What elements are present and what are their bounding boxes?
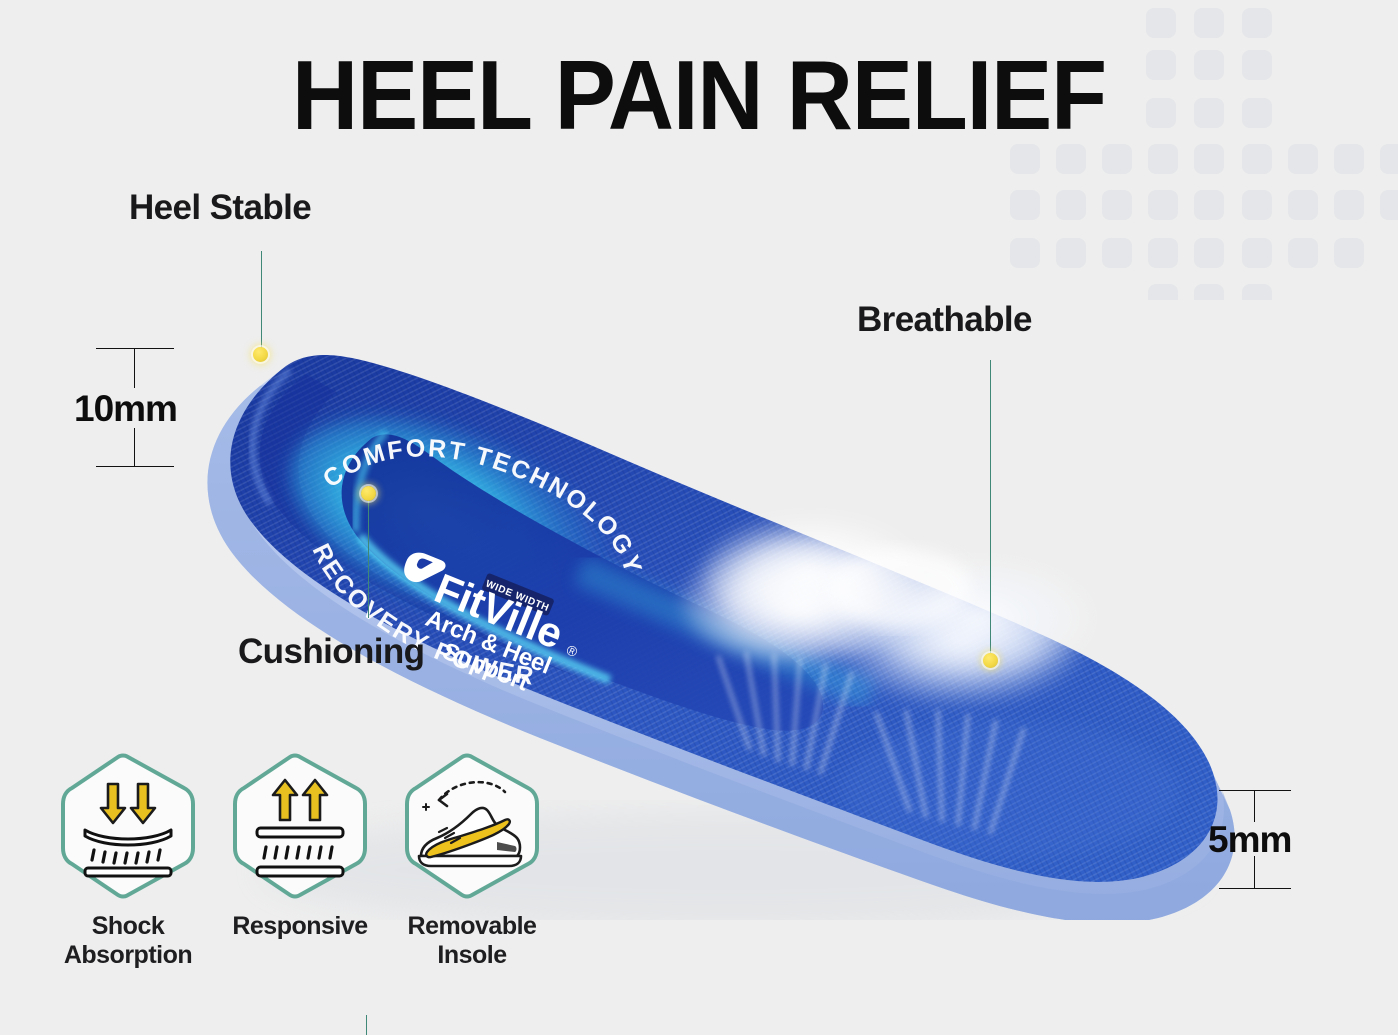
dimension-cap-top xyxy=(1219,790,1291,791)
callout-label-cushioning: Cushioning xyxy=(238,632,424,672)
feature-label-removable-insole: Removable Insole xyxy=(386,912,558,969)
feature-shock-absorption: Shock Absorption xyxy=(42,752,214,969)
pin-dot-heel-stable xyxy=(253,347,268,362)
feature-icon-row: Shock Absorption xyxy=(42,752,558,969)
hexagon-frame-responsive xyxy=(225,752,375,900)
hexagon-frame-removable-insole xyxy=(397,752,547,900)
dimension-cap-bottom xyxy=(1219,888,1291,889)
dimension-stem-upper xyxy=(1254,790,1255,822)
hexagon-frame-shock-absorption xyxy=(53,752,203,900)
leader-line-cushioning xyxy=(368,500,369,618)
pin-dot-breathable xyxy=(983,653,998,668)
dimension-heel-thickness: 10mm xyxy=(96,348,196,468)
pin-dot-cushioning xyxy=(361,486,376,501)
dimension-value-forefoot: 5mm xyxy=(1208,821,1291,858)
feature-label-shock-absorption: Shock Absorption xyxy=(42,912,214,969)
dimension-forefoot-thickness: 5mm xyxy=(1219,790,1319,890)
feature-responsive: Responsive xyxy=(214,752,386,969)
callout-label-heel-stable: Heel Stable xyxy=(129,188,311,228)
feature-label-line2: Insole xyxy=(437,941,506,969)
feature-label-line1: Shock xyxy=(92,912,165,940)
leader-line-bottom-cropped xyxy=(366,1015,367,1035)
callout-label-breathable: Breathable xyxy=(857,300,1032,340)
feature-label-responsive: Responsive xyxy=(214,912,386,941)
feature-label-line1: Responsive xyxy=(232,912,367,940)
leader-line-heel-stable xyxy=(261,251,262,354)
dimension-value-heel: 10mm xyxy=(74,390,177,427)
dimension-cap-bottom xyxy=(96,466,174,467)
feature-label-line2: Absorption xyxy=(64,941,192,969)
feature-removable-insole: Removable Insole xyxy=(386,752,558,969)
feature-label-line1: Removable xyxy=(408,912,537,940)
leader-line-breathable xyxy=(990,360,991,660)
page-title: HEEL PAIN RELIEF xyxy=(0,46,1398,145)
dimension-cap-top xyxy=(96,348,174,349)
dimension-stem-lower xyxy=(134,428,135,466)
dimension-stem-lower xyxy=(1254,856,1255,888)
dimension-stem-upper xyxy=(134,348,135,388)
